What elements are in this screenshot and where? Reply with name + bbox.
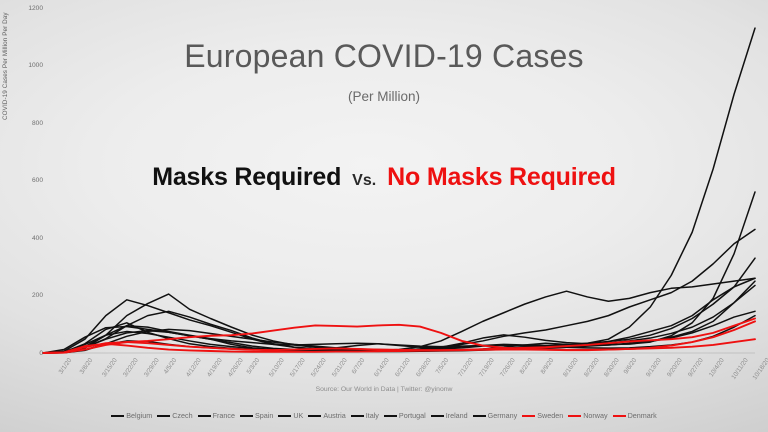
legend-swatch-icon [278,415,291,417]
legend-swatch-icon [473,415,486,417]
banner-comparison: Masks RequiredVs.No Masks Required [0,163,768,192]
y-tick-800: 800 [9,120,43,127]
legend-swatch-icon [351,415,364,417]
legend-label: Germany [488,411,518,420]
legend-label: Austria [323,411,345,420]
legend-swatch-icon [522,415,535,417]
banner-masks-required: Masks Required [152,163,341,191]
source-attribution: Source: Our World in Data | Twitter: @yi… [0,386,768,393]
banner-vs: Vs. [352,172,376,189]
y-tick-400: 400 [9,235,43,242]
legend-item-italy[interactable]: Italy [351,411,379,420]
banner-no-masks-required: No Masks Required [387,163,616,191]
legend-item-portugal[interactable]: Portugal [384,411,426,420]
legend-label: Czech [172,411,192,420]
legend-label: Italy [366,411,379,420]
slide-canvas: COVID-19 Cases Per Million Per Day 02004… [0,0,768,432]
legend-item-germany[interactable]: Germany [473,411,518,420]
chart-title: European COVID-19 Cases [0,38,768,75]
y-tick-1200: 1200 [9,5,43,12]
chart-legend: BelgiumCzechFranceSpainUKAustriaItalyPor… [0,411,768,420]
legend-label: UK [293,411,303,420]
legend-swatch-icon [384,415,397,417]
legend-item-czech[interactable]: Czech [157,411,192,420]
legend-swatch-icon [568,415,581,417]
legend-label: Denmark [628,411,657,420]
legend-swatch-icon [111,415,124,417]
series-line-belgium [43,192,755,353]
legend-label: France [213,411,235,420]
legend-item-austria[interactable]: Austria [308,411,345,420]
legend-item-denmark[interactable]: Denmark [613,411,657,420]
legend-item-spain[interactable]: Spain [240,411,273,420]
y-tick-200: 200 [9,292,43,299]
legend-label: Spain [255,411,273,420]
legend-swatch-icon [198,415,211,417]
legend-swatch-icon [157,415,170,417]
legend-item-belgium[interactable]: Belgium [111,411,152,420]
legend-item-uk[interactable]: UK [278,411,303,420]
legend-label: Ireland [446,411,468,420]
legend-item-france[interactable]: France [198,411,235,420]
legend-label: Sweden [537,411,563,420]
y-tick-0: 0 [9,350,43,357]
legend-item-sweden[interactable]: Sweden [522,411,563,420]
legend-swatch-icon [613,415,626,417]
legend-item-norway[interactable]: Norway [568,411,607,420]
legend-label: Norway [583,411,607,420]
chart-subtitle: (Per Million) [0,89,768,104]
legend-label: Belgium [126,411,152,420]
legend-item-ireland[interactable]: Ireland [431,411,468,420]
legend-swatch-icon [240,415,253,417]
legend-label: Portugal [399,411,426,420]
legend-swatch-icon [431,415,444,417]
legend-swatch-icon [308,415,321,417]
